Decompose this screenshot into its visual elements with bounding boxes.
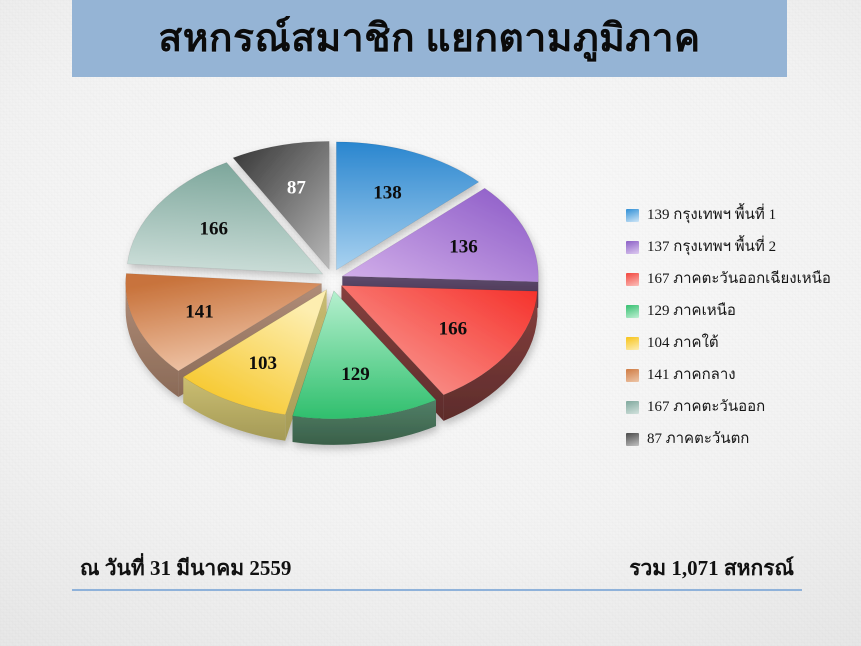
pie-slice-label: 166 [439,319,468,340]
title-bar: สหกรณ์สมาชิก แยกตามภูมิภาค [72,0,787,77]
pie-chart: 13813616612910314116687 [100,120,620,500]
legend-item[interactable]: 167 ภาคตะวันออก [626,391,856,423]
legend-label: 104 ภาคใต้ [647,336,719,351]
legend-item[interactable]: 129 ภาคเหนือ [626,295,856,327]
legend-swatch-bangkok-area-1 [626,209,639,222]
pie-slice-label: 166 [199,219,228,240]
legend-swatch-south [626,337,639,350]
footer: ณ วันที่ 31 มีนาคม 2559 รวม 1,071 สหกรณ์ [72,552,802,591]
legend-swatch-bangkok-area-2 [626,241,639,254]
legend-label: 87 ภาคตะวันตก [647,432,749,447]
pie-slice-label: 136 [449,237,478,258]
footer-total: รวม 1,071 สหกรณ์ [629,552,794,585]
slide-canvas: สหกรณ์สมาชิก แยกตามภูมิภาค [0,0,861,646]
legend-label: 141 ภาคกลาง [647,368,736,383]
footer-date: ณ วันที่ 31 มีนาคม 2559 [80,552,291,585]
footer-row: ณ วันที่ 31 มีนาคม 2559 รวม 1,071 สหกรณ์ [72,552,802,589]
legend-label: 167 ภาคตะวันออก [647,400,765,415]
legend-item[interactable]: 167 ภาคตะวันออกเฉียงเหนือ [626,263,856,295]
footer-divider [72,589,802,591]
legend-label: 139 กรุงเทพฯ พื้นที่ 1 [647,208,776,223]
legend-item[interactable]: 139 กรุงเทพฯ พื้นที่ 1 [626,199,856,231]
legend-swatch-north [626,305,639,318]
legend-swatch-northeast [626,273,639,286]
pie-slice-label: 138 [373,182,402,203]
page-title: สหกรณ์สมาชิก แยกตามภูมิภาค [158,19,700,58]
legend-item[interactable]: 87 ภาคตะวันตก [626,423,856,455]
legend-label: 129 ภาคเหนือ [647,304,736,319]
legend-item[interactable]: 137 กรุงเทพฯ พื้นที่ 2 [626,231,856,263]
legend-item[interactable]: 104 ภาคใต้ [626,327,856,359]
pie-slice-label: 87 [287,178,307,199]
pie-chart-svg: 13813616612910314116687 [100,120,620,500]
legend-swatch-east [626,401,639,414]
legend-label: 167 ภาคตะวันออกเฉียงเหนือ [647,272,831,287]
pie-slice-label: 129 [341,364,370,385]
legend-swatch-central [626,369,639,382]
legend-label: 137 กรุงเทพฯ พื้นที่ 2 [647,240,776,255]
legend-swatch-west [626,433,639,446]
pie-slice-label: 141 [185,302,214,323]
chart-legend: 139 กรุงเทพฯ พื้นที่ 1 137 กรุงเทพฯ พื้น… [626,199,856,455]
pie-slice-label: 103 [249,353,277,374]
legend-item[interactable]: 141 ภาคกลาง [626,359,856,391]
